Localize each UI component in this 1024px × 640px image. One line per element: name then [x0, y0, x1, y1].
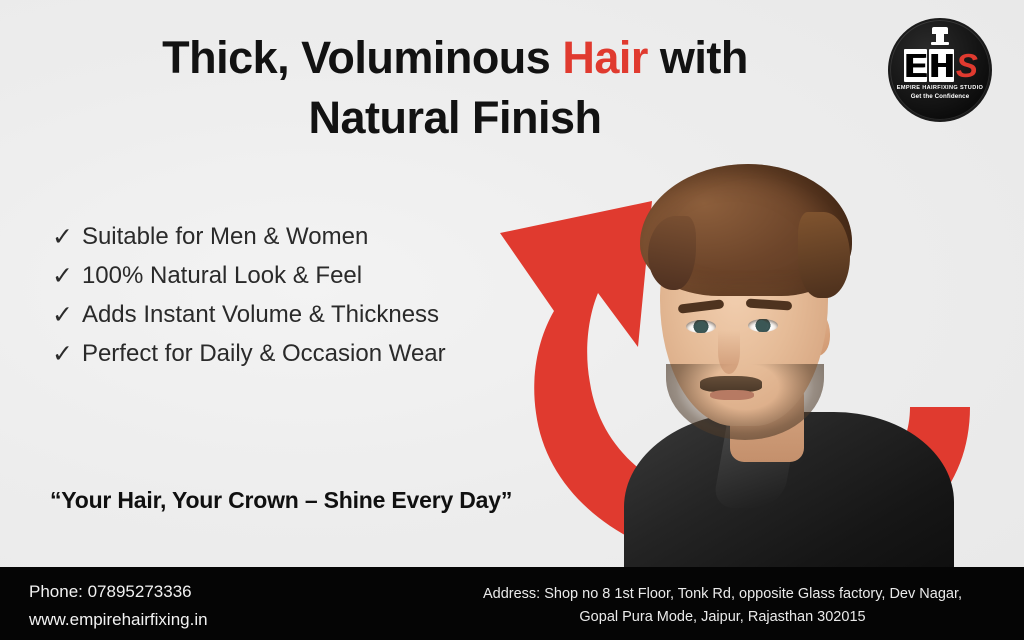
logo-letter-h: H	[929, 49, 954, 82]
phone-text[interactable]: Phone: 07895273336	[29, 578, 208, 606]
list-item: ✓ Suitable for Men & Women	[52, 224, 522, 250]
headline-line1-part2: with	[648, 32, 748, 83]
list-item: ✓ Adds Instant Volume & Thickness	[52, 302, 522, 328]
brand-logo[interactable]: EHS EMPIRE HAIRFIXING STUDIO Get the Con…	[888, 18, 992, 122]
logo-letter-e: E	[904, 49, 927, 82]
feature-label: Perfect for Daily & Occasion Wear	[82, 341, 446, 367]
logo-company-name: EMPIRE HAIRFIXING STUDIO	[897, 85, 983, 91]
advertisement-banner: EHS EMPIRE HAIRFIXING STUDIO Get the Con…	[0, 0, 1024, 640]
tagline-quote: “Your Hair, Your Crown – Shine Every Day…	[50, 487, 512, 514]
address-block: Address: Shop no 8 1st Floor, Tonk Rd, o…	[430, 583, 1015, 629]
barber-chair-icon	[929, 27, 951, 47]
model-lips	[710, 390, 754, 400]
model-nose	[718, 330, 740, 374]
address-line-2: Gopal Pura Mode, Jaipur, Rajasthan 30201…	[430, 606, 1015, 629]
headline-line2: Natural Finish	[60, 88, 850, 148]
logo-disc: EHS EMPIRE HAIRFIXING STUDIO Get the Con…	[888, 18, 992, 122]
contact-left: Phone: 07895273336 www.empirehairfixing.…	[29, 578, 208, 633]
feature-label: 100% Natural Look & Feel	[82, 263, 362, 289]
headline-line1-part1: Thick, Voluminous	[162, 32, 562, 83]
male-model-portrait	[604, 150, 964, 580]
model-pupil-left	[696, 321, 707, 332]
website-link[interactable]: www.empirehairfixing.in	[29, 606, 208, 634]
logo-initials: EHS	[903, 49, 977, 82]
address-line-1: Address: Shop no 8 1st Floor, Tonk Rd, o…	[430, 583, 1015, 606]
list-item: ✓ Perfect for Daily & Occasion Wear	[52, 341, 522, 367]
feature-label: Adds Instant Volume & Thickness	[82, 302, 439, 328]
logo-letter-s: S	[956, 49, 977, 82]
contact-footer: Phone: 07895273336 www.empirehairfixing.…	[0, 567, 1024, 640]
feature-label: Suitable for Men & Women	[82, 224, 368, 250]
model-hair	[640, 164, 852, 296]
list-item: ✓ 100% Natural Look & Feel	[52, 263, 522, 289]
logo-tagline: Get the Confidence	[911, 93, 970, 100]
feature-list: ✓ Suitable for Men & Women ✓ 100% Natura…	[52, 224, 522, 380]
model-pupil-right	[756, 320, 767, 331]
check-icon: ✓	[52, 303, 73, 328]
headline: Thick, Voluminous Hair with Natural Fini…	[60, 28, 850, 148]
check-icon: ✓	[52, 225, 73, 250]
headline-highlight-hair: Hair	[562, 32, 648, 83]
check-icon: ✓	[52, 264, 73, 289]
check-icon: ✓	[52, 342, 73, 367]
